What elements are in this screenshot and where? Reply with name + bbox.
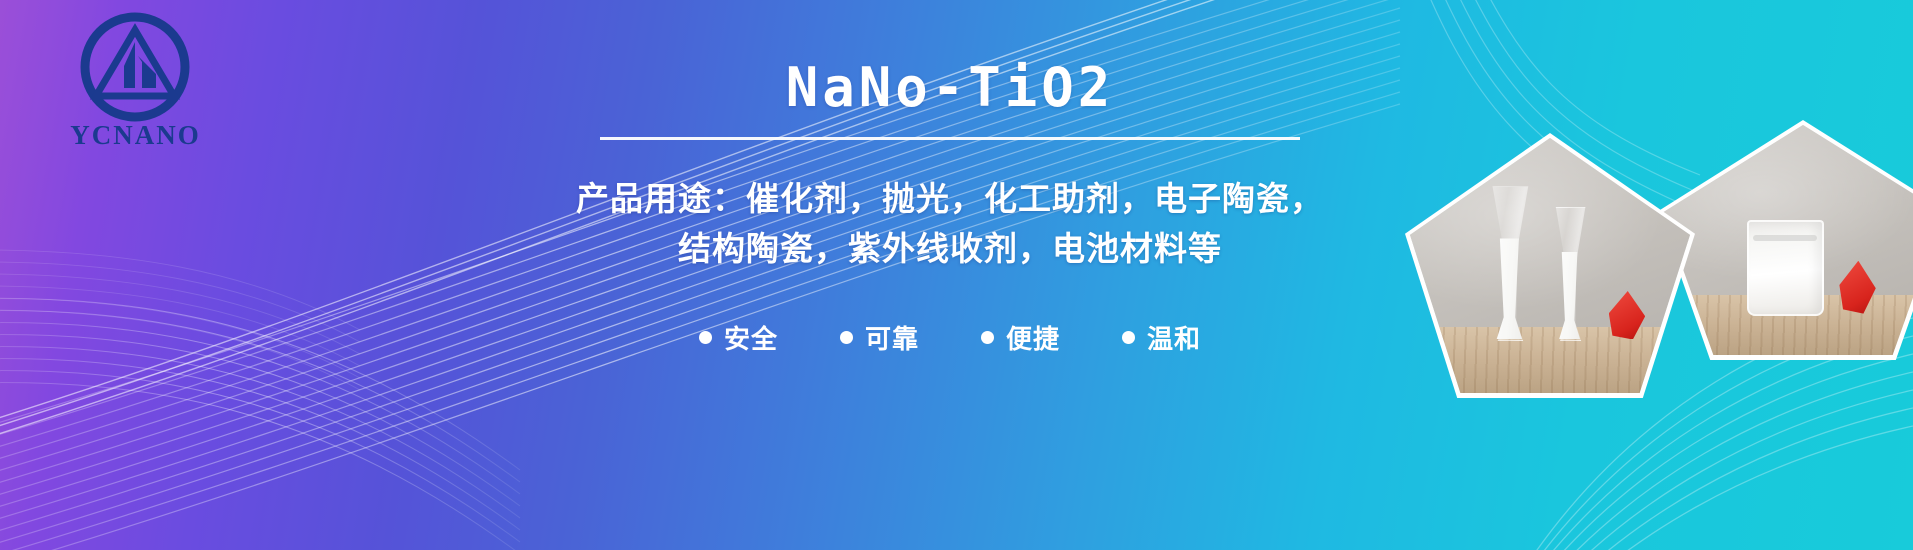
dot-icon: [981, 331, 994, 344]
product-banner: YCNANO NaNo-TiO2 产品用途：催化剂，抛光，化工助剂，电子陶瓷， …: [0, 0, 1913, 550]
ycnano-triangle-circle-logo: [80, 12, 190, 122]
feature-item-convenient: 便捷: [981, 319, 1060, 356]
feature-item-safe: 安全: [699, 319, 778, 356]
product-usage-text: 产品用途：催化剂，抛光，化工助剂，电子陶瓷， 结构陶瓷，紫外线收剂，电池材料等: [470, 174, 1430, 274]
product-photo-beaker: [1658, 120, 1913, 360]
dot-icon: [1122, 331, 1135, 344]
page-title: NaNo-TiO2: [470, 60, 1430, 117]
vase-sample-short: [1550, 207, 1589, 340]
title-divider: [600, 137, 1300, 140]
beaker-sample: [1747, 220, 1824, 316]
feature-item-mild: 温和: [1122, 319, 1201, 356]
vase-white-powder-fill: [1486, 238, 1534, 339]
feature-label: 便捷: [1006, 319, 1060, 356]
usage-line-2: 结构陶瓷，紫外线收剂，电池材料等: [470, 224, 1430, 274]
vase-sample-tall: [1486, 186, 1534, 339]
dot-icon: [699, 331, 712, 344]
banner-content: NaNo-TiO2 产品用途：催化剂，抛光，化工助剂，电子陶瓷， 结构陶瓷，紫外…: [470, 60, 1430, 356]
dot-icon: [840, 331, 853, 344]
feature-label: 温和: [1147, 319, 1201, 356]
feature-list: 安全 可靠 便捷 温和: [470, 319, 1430, 356]
feature-label: 安全: [724, 319, 778, 356]
usage-line-1: 产品用途：催化剂，抛光，化工助剂，电子陶瓷，: [470, 174, 1430, 224]
brand-wordmark: YCNANO: [48, 120, 223, 151]
brand-logo[interactable]: YCNANO: [48, 12, 223, 152]
feature-label: 可靠: [865, 319, 919, 356]
feature-item-reliable: 可靠: [840, 319, 919, 356]
product-photo-vases-frame: [1410, 138, 1690, 393]
vase-white-powder-fill: [1550, 252, 1589, 340]
product-photo-vases: [1405, 133, 1695, 398]
product-photo-beaker-frame: [1663, 125, 1913, 355]
